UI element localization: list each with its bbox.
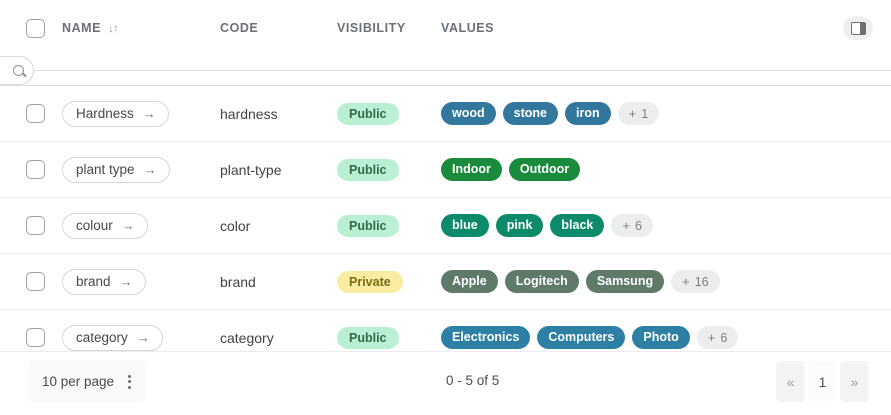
attribute-code-label: brand bbox=[220, 274, 256, 290]
table-header-row: NAME ↓↑ CODE VISIBILITY VALUES bbox=[0, 0, 891, 56]
attribute-name-link[interactable]: plant type→ bbox=[62, 157, 170, 183]
more-values-chip[interactable]: +16 bbox=[671, 270, 720, 293]
row-tools-cell bbox=[841, 86, 891, 142]
row-select-cell bbox=[0, 142, 62, 198]
pagination: « 1 » bbox=[776, 361, 869, 402]
column-header-code-label: CODE bbox=[220, 21, 258, 35]
select-all-checkbox[interactable] bbox=[26, 19, 45, 38]
value-tag[interactable]: Photo bbox=[632, 326, 689, 349]
row-checkbox[interactable] bbox=[26, 216, 45, 235]
column-header-tools bbox=[841, 0, 891, 56]
attribute-name-link[interactable]: category→ bbox=[62, 325, 163, 351]
select-all-header bbox=[0, 0, 62, 56]
value-tag[interactable]: Samsung bbox=[586, 270, 664, 293]
plus-icon: + bbox=[708, 331, 716, 344]
row-code-cell: hardness bbox=[220, 86, 337, 142]
attributes-table-body: Hardness→hardnessPublicwoodstoneiron+1pl… bbox=[0, 85, 891, 366]
column-header-values[interactable]: VALUES bbox=[441, 0, 841, 56]
attribute-name-label: brand bbox=[76, 274, 111, 289]
more-values-count: 1 bbox=[641, 107, 648, 121]
result-range-label: 0 - 5 of 5 bbox=[446, 373, 499, 388]
row-code-cell: plant-type bbox=[220, 142, 337, 198]
visibility-badge: Public bbox=[337, 159, 399, 181]
value-tag[interactable]: wood bbox=[441, 102, 496, 125]
row-values-cell: woodstoneiron+1 bbox=[441, 86, 841, 142]
value-tag-list: woodstoneiron+1 bbox=[441, 102, 841, 125]
value-tag-list: AppleLogitechSamsung+16 bbox=[441, 270, 841, 293]
arrow-right-icon: → bbox=[120, 275, 133, 288]
row-visibility-cell: Public bbox=[337, 142, 441, 198]
column-header-name-label: NAME bbox=[62, 21, 101, 35]
value-tag[interactable]: Indoor bbox=[441, 158, 502, 181]
row-checkbox[interactable] bbox=[26, 160, 45, 179]
row-visibility-cell: Public bbox=[337, 198, 441, 254]
arrow-right-icon: → bbox=[122, 219, 135, 232]
column-header-visibility-label: VISIBILITY bbox=[337, 21, 406, 35]
value-tag[interactable]: Outdoor bbox=[509, 158, 580, 181]
row-select-cell bbox=[0, 254, 62, 310]
plus-icon: + bbox=[622, 219, 630, 232]
attribute-code-label: hardness bbox=[220, 106, 278, 122]
arrow-right-icon: → bbox=[144, 163, 157, 176]
visibility-badge: Public bbox=[337, 103, 399, 125]
row-name-cell: colour→ bbox=[62, 198, 220, 254]
panel-toggle-button[interactable] bbox=[843, 16, 873, 40]
value-tag-list: ElectronicsComputersPhoto+6 bbox=[441, 326, 841, 349]
more-values-chip[interactable]: +6 bbox=[611, 214, 653, 237]
row-code-cell: brand bbox=[220, 254, 337, 310]
pagination-page-1[interactable]: 1 bbox=[808, 361, 837, 402]
value-tag[interactable]: Computers bbox=[537, 326, 625, 349]
table-row[interactable]: colour→colorPublicbluepinkblack+6 bbox=[0, 198, 891, 254]
value-tag-list: bluepinkblack+6 bbox=[441, 214, 841, 237]
row-visibility-cell: Public bbox=[337, 86, 441, 142]
attributes-table: NAME ↓↑ CODE VISIBILITY VALUES bbox=[0, 0, 891, 56]
more-values-count: 6 bbox=[720, 331, 727, 345]
plus-icon: + bbox=[682, 275, 690, 288]
table-row[interactable]: Hardness→hardnessPublicwoodstoneiron+1 bbox=[0, 86, 891, 142]
visibility-badge: Private bbox=[337, 271, 403, 293]
table-row[interactable]: plant type→plant-typePublicIndoorOutdoor bbox=[0, 142, 891, 198]
attribute-code-label: color bbox=[220, 218, 250, 234]
column-header-name[interactable]: NAME ↓↑ bbox=[62, 0, 220, 56]
row-tools-cell bbox=[841, 142, 891, 198]
row-code-cell: color bbox=[220, 198, 337, 254]
attribute-name-label: colour bbox=[76, 218, 113, 233]
more-values-chip[interactable]: +1 bbox=[618, 102, 660, 125]
value-tag[interactable]: iron bbox=[565, 102, 611, 125]
value-tag[interactable]: Apple bbox=[441, 270, 498, 293]
table-search-bar bbox=[0, 56, 891, 85]
row-checkbox[interactable] bbox=[26, 104, 45, 123]
row-values-cell: bluepinkblack+6 bbox=[441, 198, 841, 254]
table-row[interactable]: brand→brandPrivateAppleLogitechSamsung+1… bbox=[0, 254, 891, 310]
more-values-chip[interactable]: +6 bbox=[697, 326, 739, 349]
attribute-name-label: plant type bbox=[76, 162, 135, 177]
attribute-name-link[interactable]: brand→ bbox=[62, 269, 146, 295]
arrow-right-icon: → bbox=[137, 331, 150, 344]
value-tag[interactable]: Logitech bbox=[505, 270, 579, 293]
column-header-values-label: VALUES bbox=[441, 21, 494, 35]
row-tools-cell bbox=[841, 254, 891, 310]
pagination-next-button[interactable]: » bbox=[840, 361, 869, 402]
arrow-right-icon: → bbox=[143, 107, 156, 120]
row-values-cell: AppleLogitechSamsung+16 bbox=[441, 254, 841, 310]
attribute-name-link[interactable]: colour→ bbox=[62, 213, 148, 239]
attribute-name-label: Hardness bbox=[76, 106, 134, 121]
visibility-badge: Public bbox=[337, 215, 399, 237]
column-header-visibility[interactable]: VISIBILITY bbox=[337, 0, 441, 56]
more-values-count: 6 bbox=[635, 219, 642, 233]
attribute-name-label: category bbox=[76, 330, 128, 345]
row-name-cell: plant type→ bbox=[62, 142, 220, 198]
search-divider bbox=[0, 70, 891, 71]
row-select-cell bbox=[0, 86, 62, 142]
attribute-code-label: plant-type bbox=[220, 162, 281, 178]
column-header-code[interactable]: CODE bbox=[220, 0, 337, 56]
table-header: NAME ↓↑ CODE VISIBILITY VALUES bbox=[0, 0, 891, 56]
value-tag[interactable]: black bbox=[550, 214, 604, 237]
table-rows: Hardness→hardnessPublicwoodstoneiron+1pl… bbox=[0, 86, 891, 366]
value-tag-list: IndoorOutdoor bbox=[441, 158, 841, 181]
attributes-table-screen: NAME ↓↑ CODE VISIBILITY VALUES bbox=[0, 0, 891, 415]
attribute-name-link[interactable]: Hardness→ bbox=[62, 101, 169, 127]
attribute-code-label: category bbox=[220, 330, 274, 346]
kebab-menu-icon[interactable] bbox=[128, 375, 131, 389]
row-name-cell: brand→ bbox=[62, 254, 220, 310]
per-page-label: 10 per page bbox=[42, 374, 114, 389]
row-checkbox[interactable] bbox=[26, 272, 45, 291]
row-visibility-cell: Private bbox=[337, 254, 441, 310]
value-tag[interactable]: Electronics bbox=[441, 326, 530, 349]
panel-toggle-icon bbox=[851, 22, 866, 35]
search-button[interactable] bbox=[0, 56, 34, 85]
value-tag[interactable]: pink bbox=[496, 214, 544, 237]
plus-icon: + bbox=[629, 107, 637, 120]
visibility-badge: Public bbox=[337, 327, 399, 349]
pagination-prev-button[interactable]: « bbox=[776, 361, 805, 402]
row-values-cell: IndoorOutdoor bbox=[441, 142, 841, 198]
value-tag[interactable]: blue bbox=[441, 214, 489, 237]
row-name-cell: Hardness→ bbox=[62, 86, 220, 142]
table-footer: 10 per page 0 - 5 of 5 « 1 » bbox=[0, 351, 891, 415]
row-select-cell bbox=[0, 198, 62, 254]
per-page-selector[interactable]: 10 per page bbox=[28, 360, 146, 403]
search-icon bbox=[13, 65, 24, 76]
sort-icon[interactable]: ↓↑ bbox=[108, 22, 118, 34]
row-checkbox[interactable] bbox=[26, 328, 45, 347]
more-values-count: 16 bbox=[695, 275, 709, 289]
row-tools-cell bbox=[841, 198, 891, 254]
value-tag[interactable]: stone bbox=[503, 102, 558, 125]
